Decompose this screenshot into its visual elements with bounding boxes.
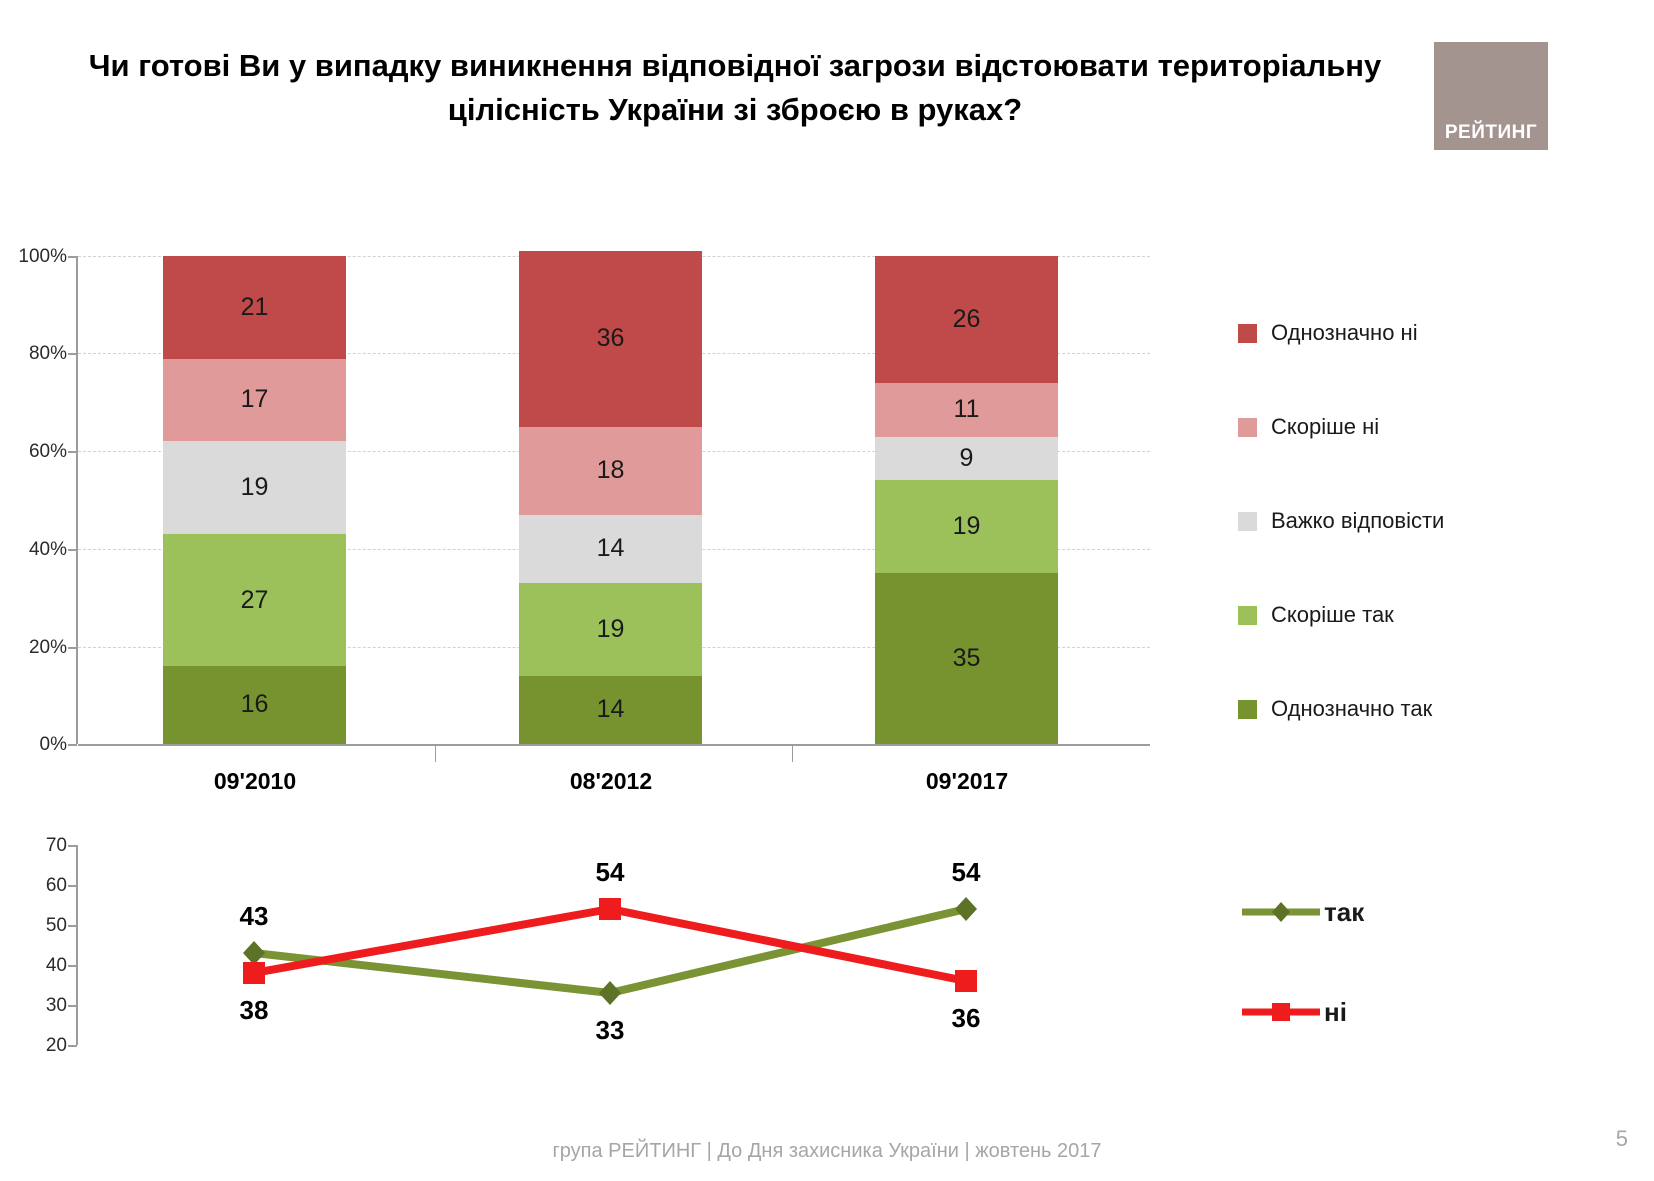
bar-segment-definitely-no-092017[interactable]: 26	[875, 256, 1058, 383]
data-label-так-092010: 43	[240, 901, 269, 932]
bar-segment-rather-yes-082012[interactable]: 19	[519, 583, 702, 676]
category-tick-2	[792, 746, 793, 762]
data-label-ні-092010: 38	[240, 995, 269, 1026]
y-tick-40	[68, 549, 77, 551]
bar-value-label: 9	[960, 444, 974, 473]
bar-group-2010[interactable]: 2117192716	[163, 256, 346, 744]
data-point-ні-092017[interactable]	[955, 970, 977, 992]
y-tick-100	[68, 256, 77, 258]
stacked-bar-chart: 100% 80% 60% 40% 20% 0% 2117192716 36181…	[0, 248, 1180, 808]
legend-marker-yes-icon	[1238, 899, 1324, 925]
line-chart: 70 60 50 40 30 20	[0, 836, 1180, 1066]
legend-swatch-definitely-yes	[1238, 700, 1257, 719]
data-point-ні-082012[interactable]	[599, 898, 621, 920]
bar-segment-definitely-no-092010[interactable]: 21	[163, 256, 346, 358]
data-label-так-092017: 54	[952, 857, 981, 888]
bar-segment-definitely-yes-082012[interactable]: 14	[519, 676, 702, 744]
line-series-svg	[0, 836, 1180, 1066]
y-axis-line	[76, 256, 78, 744]
legend-label-rather-yes: Скоріше так	[1271, 602, 1394, 628]
bar-segment-rather-no-082012[interactable]: 18	[519, 427, 702, 515]
bar-segment-definitely-yes-092017[interactable]: 35	[875, 573, 1058, 744]
bar-value-label: 35	[953, 644, 981, 673]
data-point-так-092017[interactable]	[955, 897, 977, 921]
legend-swatch-definitely-no	[1238, 324, 1257, 343]
y-axis-label-0: 0%	[0, 734, 67, 756]
y-axis-label-20: 20%	[0, 637, 67, 659]
y-axis-label-100: 100%	[0, 246, 67, 268]
y-tick-0	[68, 744, 77, 746]
bar-segment-hard-to-answer-092017[interactable]: 9	[875, 437, 1058, 481]
x-axis-label-2012: 08'2012	[486, 768, 736, 795]
page-title: Чи готові Ви у випадку виникнення відпов…	[70, 44, 1400, 132]
page-number: 5	[1616, 1126, 1628, 1152]
data-point-ні-092010[interactable]	[243, 962, 265, 984]
legend-swatch-hard-to-answer	[1238, 512, 1257, 531]
bar-segment-hard-to-answer-092010[interactable]: 19	[163, 441, 346, 534]
y-axis-label-60: 60%	[0, 441, 67, 463]
bar-value-label: 27	[241, 586, 269, 615]
bar-value-label: 17	[241, 385, 269, 414]
y-tick-20	[68, 647, 77, 649]
x-axis-line	[78, 744, 1150, 746]
bar-value-label: 36	[597, 324, 625, 353]
bar-segment-rather-yes-092010[interactable]: 27	[163, 534, 346, 666]
category-tick-1	[435, 746, 436, 762]
legend-label-hard-to-answer: Важко відповісти	[1271, 508, 1444, 534]
x-axis-label-2017: 09'2017	[842, 768, 1092, 795]
bar-segment-rather-no-092010[interactable]: 17	[163, 359, 346, 442]
y-tick-60	[68, 451, 77, 453]
stacked-bar-legend: Однозначно ні Скоріше ні Важко відповіст…	[1238, 286, 1638, 756]
legend-swatch-rather-no	[1238, 418, 1257, 437]
legend-item-yes[interactable]: так	[1238, 862, 1638, 962]
bar-value-label: 16	[241, 690, 269, 719]
rating-logo-text: РЕЙТИНГ	[1445, 122, 1537, 144]
footer-text: група РЕЙТИНГ | До Дня захисника України…	[0, 1140, 1654, 1163]
legend-item-rather-yes[interactable]: Скоріше так	[1238, 568, 1638, 662]
bar-value-label: 11	[954, 395, 980, 424]
bar-value-label: 14	[597, 695, 625, 724]
bar-value-label: 19	[597, 615, 625, 644]
legend-item-definitely-no[interactable]: Однозначно ні	[1238, 286, 1638, 380]
line-chart-legend: так ні	[1238, 862, 1638, 1062]
data-label-ні-082012: 54	[596, 857, 625, 888]
bar-segment-rather-no-092017[interactable]: 11	[875, 383, 1058, 437]
legend-label-no: ні	[1324, 997, 1347, 1028]
y-tick-80	[68, 353, 77, 355]
legend-marker-no-icon	[1238, 999, 1324, 1025]
bar-value-label: 21	[241, 293, 269, 322]
legend-item-definitely-yes[interactable]: Однозначно так	[1238, 662, 1638, 756]
legend-swatch-rather-yes	[1238, 606, 1257, 625]
bar-segment-definitely-no-082012[interactable]: 36	[519, 251, 702, 427]
bar-value-label: 14	[597, 534, 625, 563]
bar-value-label: 19	[241, 473, 269, 502]
bar-group-2012[interactable]: 3618141914	[519, 251, 702, 744]
bar-segment-rather-yes-092017[interactable]: 19	[875, 480, 1058, 573]
data-label-так-082012: 33	[596, 1015, 625, 1046]
bar-value-label: 26	[953, 305, 981, 334]
legend-label-rather-no: Скоріше ні	[1271, 414, 1379, 440]
data-point-так-092010[interactable]	[243, 941, 265, 965]
bar-value-label: 19	[953, 512, 981, 541]
bar-value-label: 18	[597, 456, 625, 485]
legend-label-definitely-yes: Однозначно так	[1271, 696, 1432, 722]
data-label-ні-092017: 36	[952, 1003, 981, 1034]
legend-item-no[interactable]: ні	[1238, 962, 1638, 1062]
data-point-так-082012[interactable]	[599, 981, 621, 1005]
bar-segment-definitely-yes-092010[interactable]: 16	[163, 666, 346, 744]
legend-label-yes: так	[1324, 897, 1364, 928]
rating-logo: РЕЙТИНГ	[1434, 42, 1548, 150]
legend-item-rather-no[interactable]: Скоріше ні	[1238, 380, 1638, 474]
x-axis-label-2010: 09'2010	[130, 768, 380, 795]
legend-label-definitely-no: Однозначно ні	[1271, 320, 1418, 346]
bar-group-2017[interactable]: 261191935	[875, 256, 1058, 744]
y-axis-label-80: 80%	[0, 343, 67, 365]
y-axis-label-40: 40%	[0, 539, 67, 561]
bar-segment-hard-to-answer-082012[interactable]: 14	[519, 515, 702, 583]
legend-item-hard-to-answer[interactable]: Важко відповісти	[1238, 474, 1638, 568]
